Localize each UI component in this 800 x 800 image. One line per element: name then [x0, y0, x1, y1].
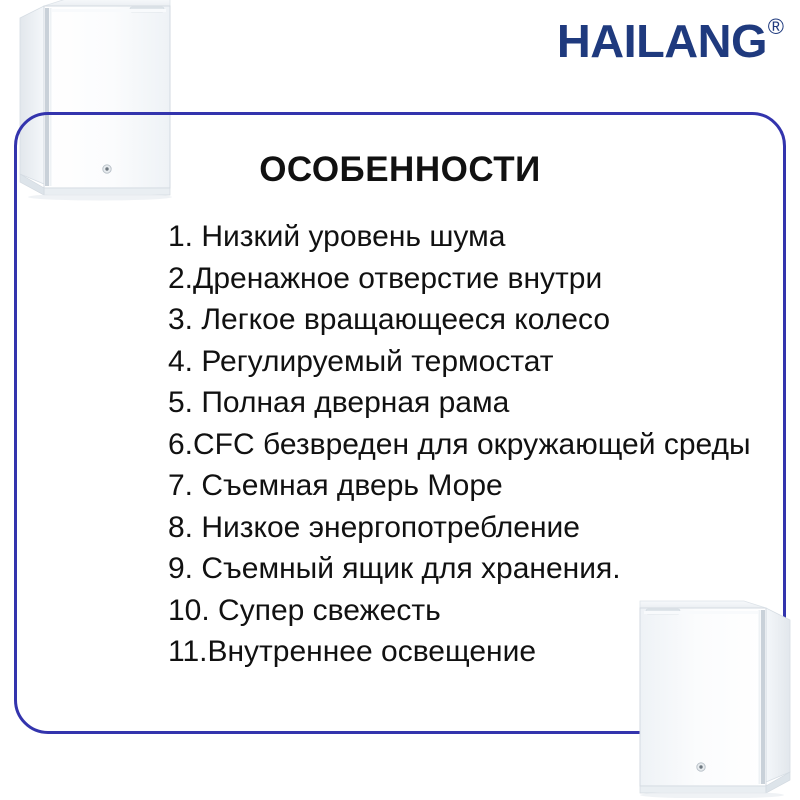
feature-item: 9. Съемный ящик для хранения.: [168, 548, 800, 590]
registered-trademark-icon: ®: [768, 16, 784, 38]
feature-item: 7. Съемная дверь Море: [168, 465, 800, 507]
feature-item: 5. Полная дверная рама: [168, 382, 800, 424]
features-section: ОСОБЕННОСТИ 1. Низкий уровень шума 2.Дре…: [0, 112, 800, 673]
feature-item: 6.CFC безвреден для окружающей среды: [168, 424, 800, 466]
refrigerator-image-bottom-right: [628, 598, 796, 798]
refrigerator-illustration: [628, 598, 796, 798]
feature-item: 1. Низкий уровень шума: [168, 216, 800, 258]
product-feature-card: HAILANG ® ОСОБЕННОСТИ 1. Низкий уровень …: [0, 0, 800, 800]
brand-logo: HAILANG ®: [561, 18, 784, 64]
brand-wordmark: HAILANG: [557, 18, 767, 64]
features-heading: ОСОБЕННОСТИ: [0, 150, 800, 190]
feature-item: 3. Легкое вращающееся колесо: [168, 299, 800, 341]
feature-item: 4. Регулируемый термостат: [168, 341, 800, 383]
feature-item: 8. Низкое энергопотребление: [168, 507, 800, 549]
feature-item: 2.Дренажное отверстие внутри: [168, 258, 800, 300]
